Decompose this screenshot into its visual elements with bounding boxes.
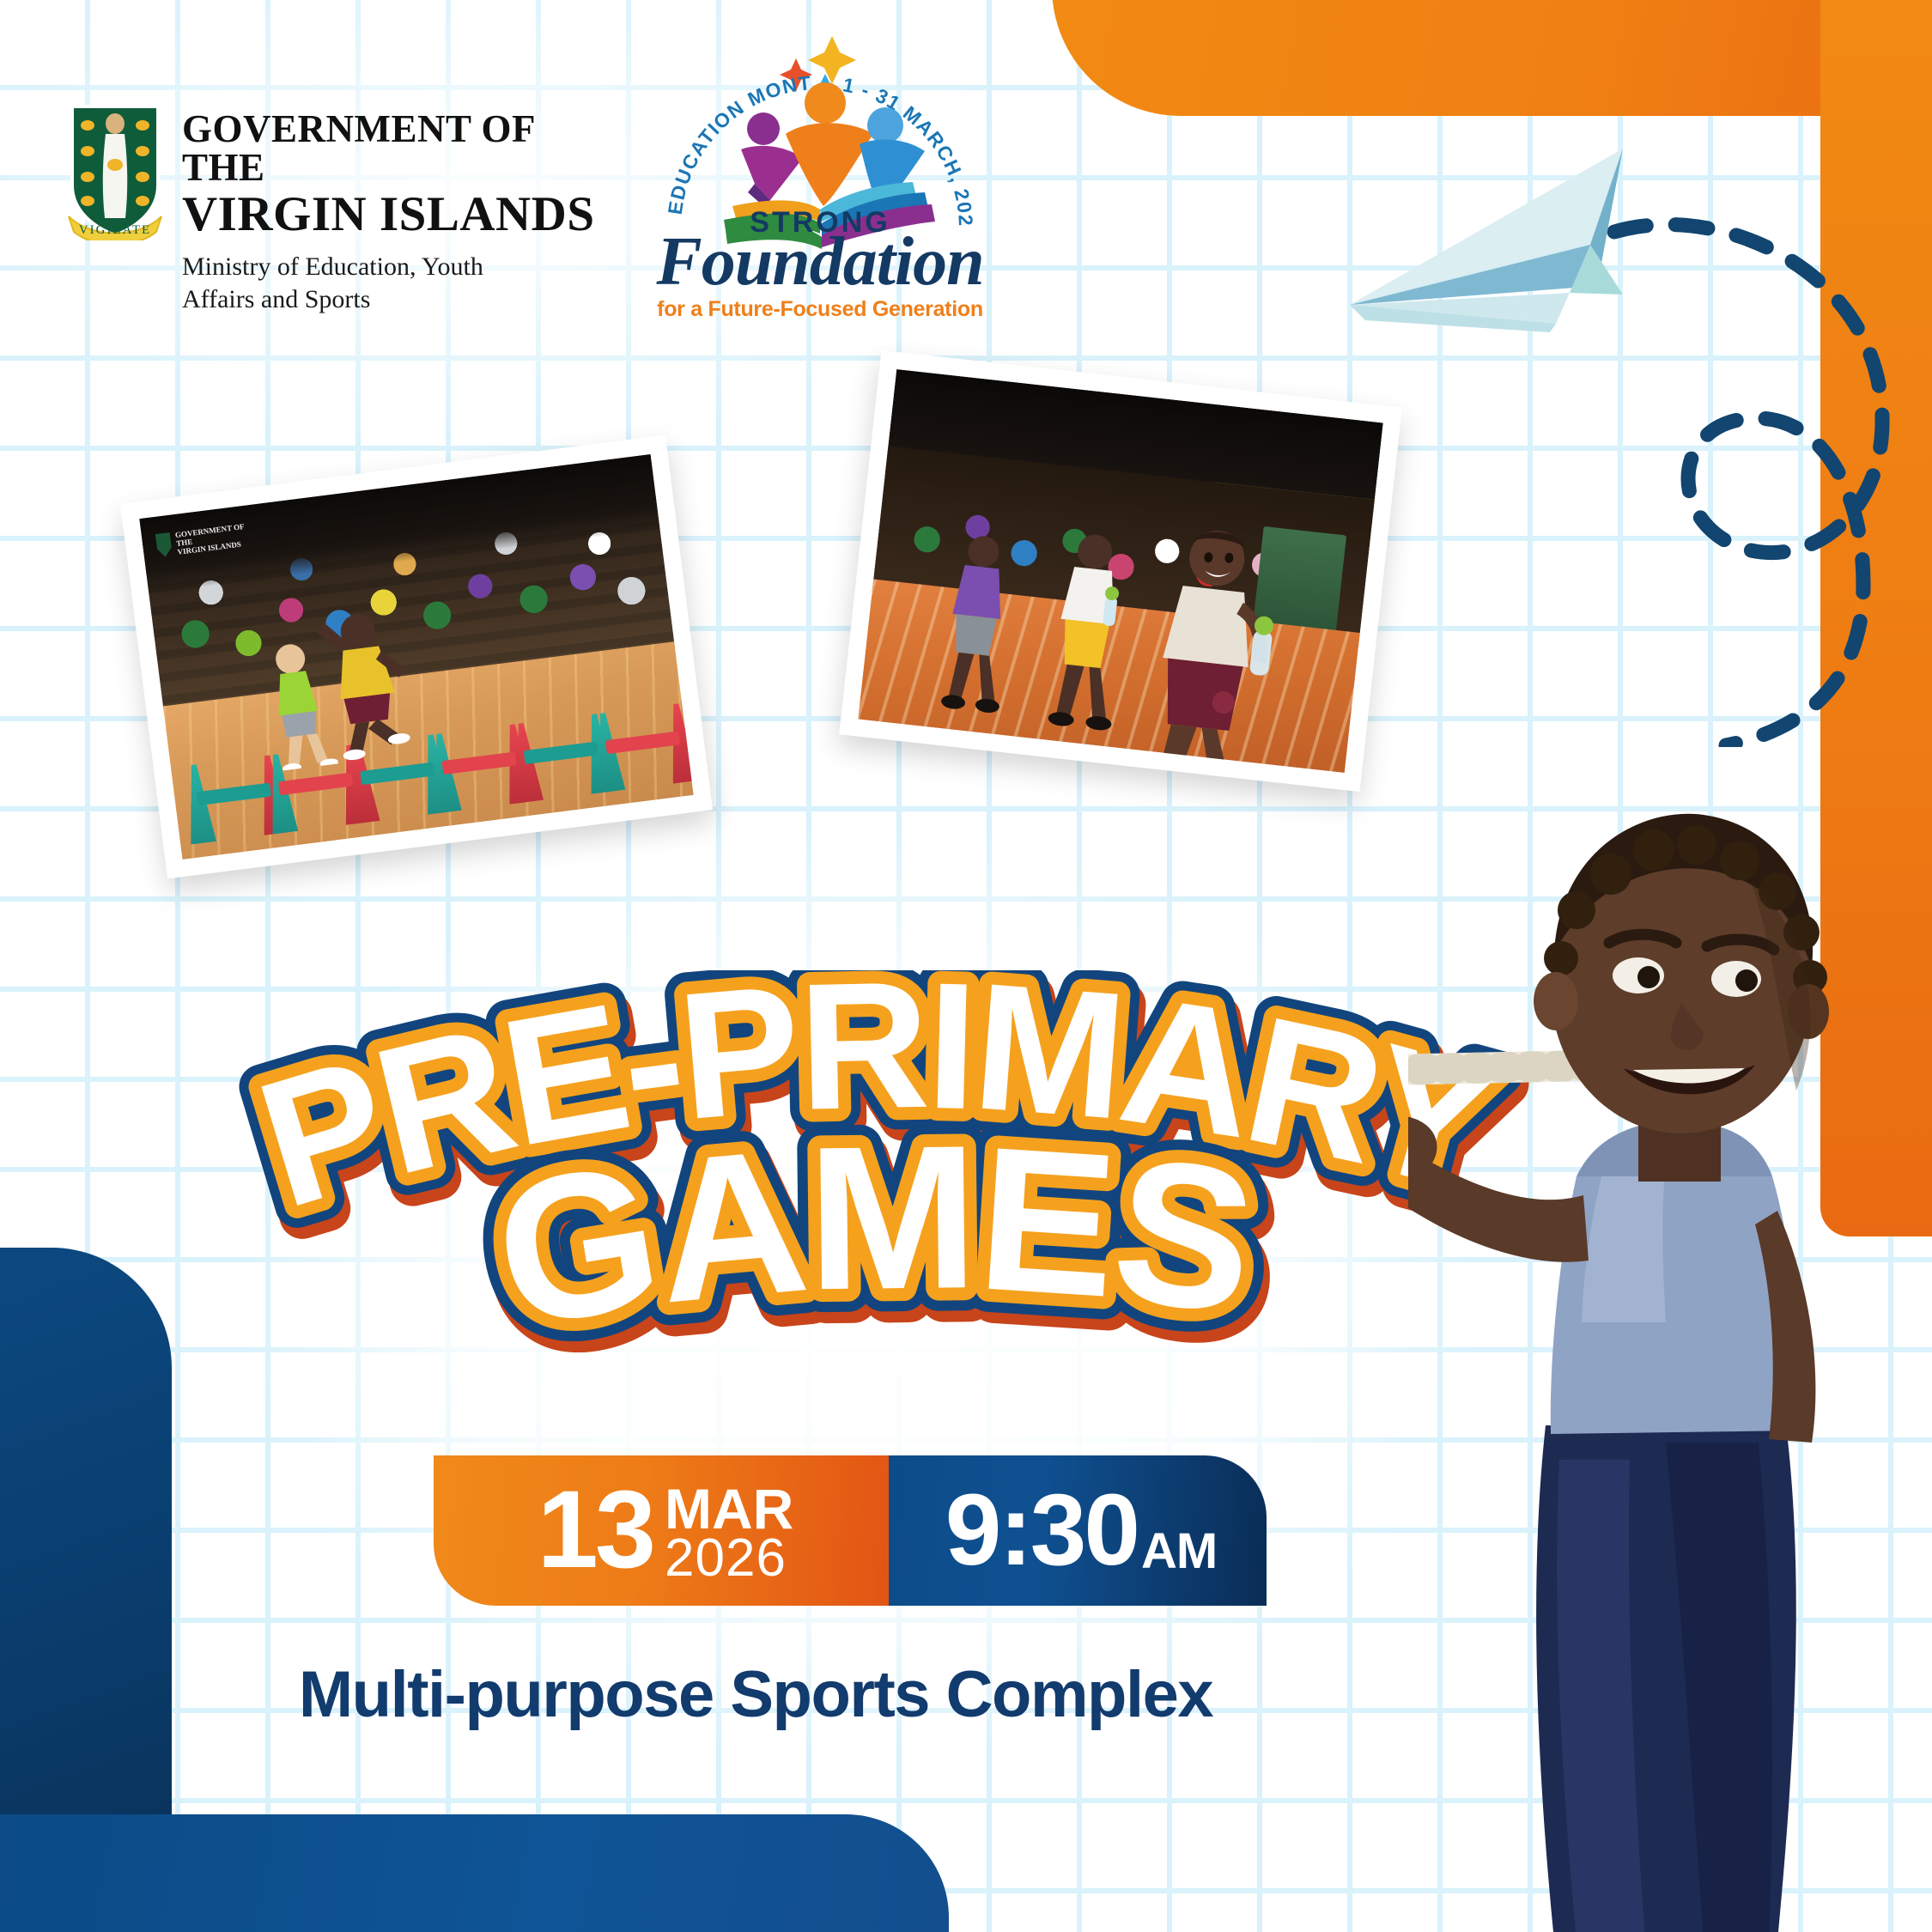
virgin-islands-coat-of-arms-icon: VIGILATE (67, 103, 163, 240)
title-line2-text: GAMES (481, 1103, 1263, 1370)
date-badge: 13 MAR 2026 (434, 1455, 889, 1606)
gov-logo-line1: GOVERNMENT OF THE (182, 110, 617, 187)
photo-water-bottles (839, 350, 1402, 792)
time-meridiem: AM (1141, 1522, 1217, 1606)
boy-pulling-rope-cutout (1408, 807, 1932, 1932)
date-year: 2026 (665, 1534, 793, 1583)
gov-logo-ministry: Ministry of Education, Youth Affairs and… (182, 251, 551, 316)
crest-motto-text: VIGILATE (79, 223, 151, 237)
venue-text: Multi-purpose Sports Complex (0, 1657, 1511, 1732)
education-month-arc-left: EDUCATION MONTH (640, 24, 813, 216)
watermark-shield-icon (155, 532, 173, 558)
dashed-curve-line (1606, 215, 1932, 747)
em-foundation-text: Foundation (640, 223, 1000, 301)
blue-bottom-block-shape (0, 1814, 949, 1932)
orange-top-bar-shape (1052, 0, 1932, 116)
government-logo: VIGILATE GOVERNMENT OF THE VIRGIN ISLAND… (67, 103, 617, 258)
em-tagline-text: for a Future-Focused Generation (640, 297, 1000, 322)
time-badge: 9:30 AM (889, 1455, 1267, 1606)
paper-plane-icon (1340, 142, 1631, 339)
date-day: 13 (538, 1484, 653, 1577)
date-time-badge-row: 13 MAR 2026 9:30 AM (434, 1455, 1267, 1606)
date-month: MAR (665, 1482, 793, 1535)
photo-hurdles: GOVERNMENT OF THE VIRGIN ISLANDS (120, 435, 713, 879)
poster-canvas: VIGILATE GOVERNMENT OF THE VIRGIN ISLAND… (0, 0, 1932, 1932)
time-clock: 9:30 (945, 1485, 1138, 1576)
education-month-logo: EDUCATION MONTH 1 - 31 MARCH, 2026 STRON… (640, 24, 1000, 316)
gov-logo-line2: VIRGIN ISLANDS (182, 189, 617, 240)
